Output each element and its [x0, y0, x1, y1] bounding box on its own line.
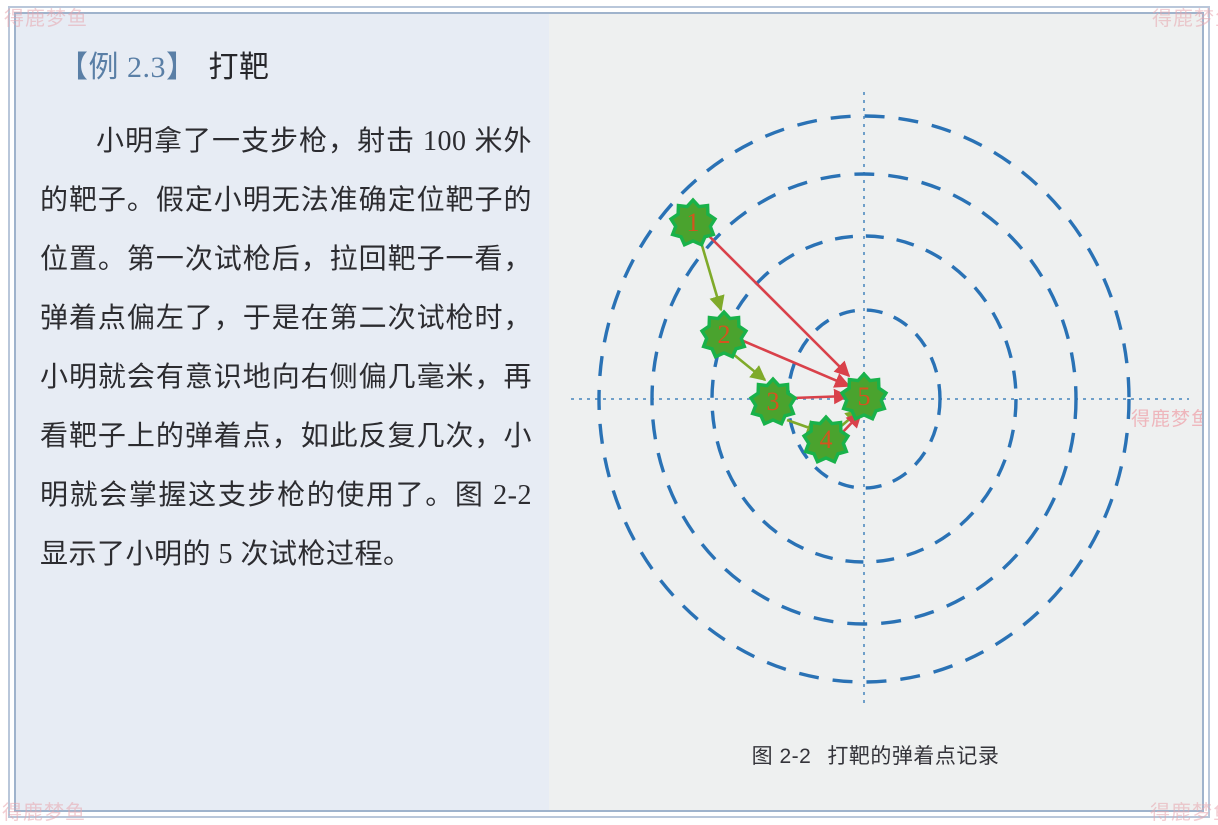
shot-label: 4 [820, 425, 833, 454]
example-heading: 【例 2.3】打靶 [58, 42, 270, 86]
shot-marker-4[interactable]: 4 [804, 417, 848, 462]
example-tag: 【例 2.3】 [58, 51, 197, 84]
target-diagram: 1 2 3 4 [549, 14, 1202, 734]
page-title: 打靶 [209, 51, 270, 84]
figure-caption-text: 打靶的弹着点记录 [827, 745, 999, 768]
figure-number: 图 2-2 [752, 745, 812, 768]
figure-panel: 1 2 3 4 [549, 14, 1202, 810]
shot-marker-3[interactable]: 3 [751, 379, 795, 424]
shot-marker-group: 1 2 3 4 [671, 200, 886, 462]
target-arrow-2-5 [741, 340, 849, 386]
shot-marker-2[interactable]: 2 [702, 312, 746, 357]
shot-label: 2 [718, 320, 731, 349]
target-svg: 1 2 3 4 [549, 14, 1202, 734]
shot-label: 1 [687, 208, 700, 237]
shot-label: 5 [858, 382, 871, 411]
document-page: 【例 2.3】打靶 小明拿了一支步枪，射击 100 米外的靶子。假定小明无法准确… [0, 0, 1218, 825]
figure-caption: 图 2-2打靶的弹着点记录 [549, 740, 1202, 770]
sequence-arrow-2-3 [733, 354, 765, 380]
shot-label: 3 [767, 387, 780, 416]
body-paragraph: 小明拿了一支步枪，射击 100 米外的靶子。假定小明无法准确定位靶子的位置。第一… [40, 112, 532, 584]
shot-marker-5[interactable]: 5 [842, 374, 886, 419]
sequence-arrow-1-2 [701, 242, 721, 310]
shot-marker-1[interactable]: 1 [671, 200, 715, 245]
page-frame-inner: 【例 2.3】打靶 小明拿了一支步枪，射击 100 米外的靶子。假定小明无法准确… [14, 12, 1204, 812]
target-arrow-3-5 [793, 396, 848, 398]
text-panel: 【例 2.3】打靶 小明拿了一支步枪，射击 100 米外的靶子。假定小明无法准确… [16, 14, 549, 810]
